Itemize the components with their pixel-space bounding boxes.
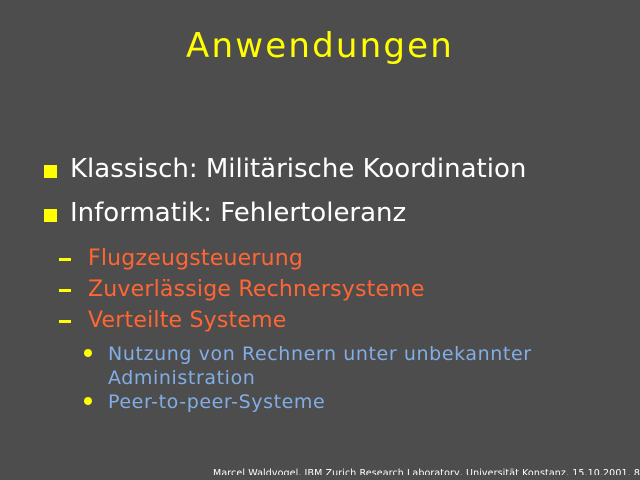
list-item-label: Informatik: Fehlertoleranz <box>70 198 406 228</box>
dash-bullet-icon <box>59 289 71 292</box>
round-bullet-icon <box>84 397 92 405</box>
square-bullet-icon <box>44 209 57 222</box>
list-item-label: Zuverlässige Rechnersysteme <box>88 277 425 302</box>
list-item-label: Verteilte Systeme <box>88 308 286 333</box>
list-item-level2: Verteilte Systeme <box>0 306 640 337</box>
list-item-level3: Peer-to-peer-Systeme <box>0 390 640 416</box>
dash-bullet-icon <box>59 320 71 323</box>
slide: Anwendungen Klassisch: Militärische Koor… <box>0 0 640 480</box>
list-item-level3: Nutzung von Rechnern unter unbekannter A… <box>0 342 640 390</box>
bullet-list: Klassisch: Militärische Koordination Inf… <box>0 152 640 416</box>
list-item-label: Peer-to-peer-Systeme <box>108 390 548 414</box>
footer-text: Marcel Waldvogel, IBM Zurich Research La… <box>213 468 640 475</box>
list-item-label: Nutzung von Rechnern unter unbekannter A… <box>108 342 548 390</box>
list-item-level2: Flugzeugsteuerung <box>0 244 640 275</box>
list-item-level2: Zuverlässige Rechnersysteme <box>0 275 640 306</box>
square-bullet-icon <box>44 165 57 178</box>
round-bullet-icon <box>84 349 92 357</box>
slide-footer: Marcel Waldvogel, IBM Zurich Research La… <box>0 461 640 475</box>
list-item-level1: Klassisch: Militärische Koordination <box>0 152 640 188</box>
spacer <box>0 236 640 244</box>
list-item-label: Flugzeugsteuerung <box>88 246 303 271</box>
page-title: Anwendungen <box>0 26 640 66</box>
list-item-label: Klassisch: Militärische Koordination <box>70 154 526 184</box>
list-item-level1: Informatik: Fehlertoleranz <box>0 196 640 232</box>
dash-bullet-icon <box>59 258 71 261</box>
